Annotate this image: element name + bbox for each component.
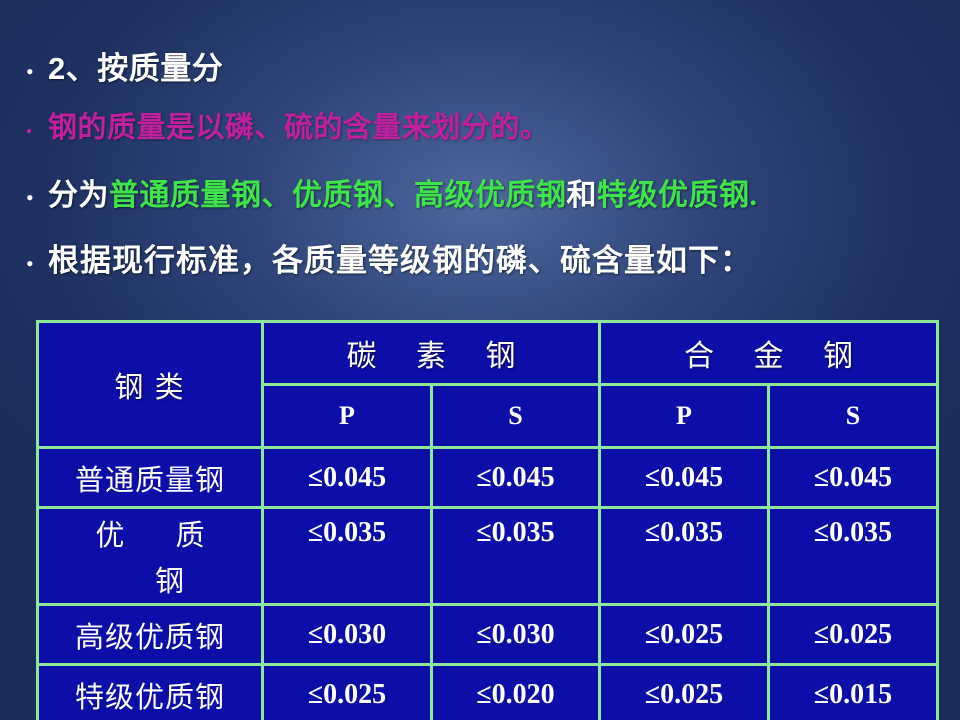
cell-high-carbon-s: ≤0.035 — [432, 508, 600, 605]
table-row: 普通质量钢 ≤0.045 ≤0.045 ≤0.045 ≤0.045 — [38, 448, 938, 508]
bullet-item-2: • 钢的质量是以磷、硫的含量来划分的。 — [26, 104, 550, 146]
header-carbon-steel: 碳 素 钢 — [263, 322, 600, 385]
bullet-text-2: 钢的质量是以磷、硫的含量来划分的。 — [48, 104, 550, 146]
cell-high-alloy-p: ≤0.035 — [600, 508, 769, 605]
cell-ordinary-alloy-p: ≤0.045 — [600, 448, 769, 508]
row-label-ordinary-quality: 普通质量钢 — [38, 448, 263, 508]
header-alloy-steel: 合 金 钢 — [600, 322, 938, 385]
row-label-special-high-quality: 特级优质钢 — [38, 665, 263, 720]
bullet-item-1: • 2、按质量分 — [26, 43, 223, 88]
cell-advanced-alloy-p: ≤0.025 — [600, 605, 769, 665]
row-label-advanced-high-quality: 高级优质钢 — [38, 605, 263, 665]
cell-high-carbon-p: ≤0.035 — [263, 508, 432, 605]
slide-canvas: • 2、按质量分 • 钢的质量是以磷、硫的含量来划分的。 • 分为普通质量钢、优… — [0, 0, 960, 720]
bullet-segment-prefix: 分为 — [48, 179, 109, 212]
cell-ordinary-alloy-s: ≤0.045 — [769, 448, 938, 508]
bullet-text-1: 2、按质量分 — [48, 43, 223, 88]
bullet-item-3: • 分为普通质量钢、优质钢、高级优质钢和特级优质钢. — [26, 170, 758, 214]
header-steel-class: 钢 类 — [38, 322, 263, 448]
bullet-segment-conj: 和 — [567, 179, 598, 212]
header-alloy-p: P — [600, 385, 769, 448]
cell-ordinary-carbon-p: ≤0.045 — [263, 448, 432, 508]
table-header-row-group: 钢 类 碳 素 钢 合 金 钢 — [38, 322, 938, 385]
bullet-text-4: 根据现行标准，各质量等级钢的磷、硫含量如下： — [48, 235, 752, 280]
cell-ordinary-carbon-s: ≤0.045 — [432, 448, 600, 508]
header-carbon-p: P — [263, 385, 432, 448]
table-row: 特级优质钢 ≤0.025 ≤0.020 ≤0.025 ≤0.015 — [38, 665, 938, 720]
bullet-marker-icon: • — [26, 123, 48, 140]
cell-advanced-carbon-s: ≤0.030 — [432, 605, 600, 665]
bullet-segment-grades: 普通质量钢、优质钢、高级优质钢 — [109, 179, 567, 212]
bullet-item-4: • 根据现行标准，各质量等级钢的磷、硫含量如下： — [26, 235, 752, 280]
phosphorus-sulfur-content-table: 钢 类 碳 素 钢 合 金 钢 P S P S 普通质量钢 ≤0.045 ≤0.… — [36, 320, 939, 720]
cell-special-alloy-p: ≤0.025 — [600, 665, 769, 720]
cell-advanced-carbon-p: ≤0.030 — [263, 605, 432, 665]
cell-high-alloy-s: ≤0.035 — [769, 508, 938, 605]
row-label-high-quality: 优 质 钢 — [38, 508, 263, 605]
bullet-marker-icon: • — [26, 187, 48, 209]
cell-advanced-alloy-s: ≤0.025 — [769, 605, 938, 665]
cell-special-carbon-s: ≤0.020 — [432, 665, 600, 720]
bullet-marker-icon: • — [26, 253, 48, 275]
bullet-text-3: 分为普通质量钢、优质钢、高级优质钢和特级优质钢. — [48, 170, 758, 214]
header-carbon-s: S — [432, 385, 600, 448]
bullet-marker-icon: • — [26, 61, 48, 83]
bullet-segment-special: 特级优质钢. — [597, 179, 758, 212]
row-label-line-2: 钢 — [79, 558, 261, 600]
table-row: 优 质 钢 ≤0.035 ≤0.035 ≤0.035 ≤0.035 — [38, 508, 938, 605]
cell-special-alloy-s: ≤0.015 — [769, 665, 938, 720]
header-alloy-s: S — [769, 385, 938, 448]
table-row: 高级优质钢 ≤0.030 ≤0.030 ≤0.025 ≤0.025 — [38, 605, 938, 665]
row-label-line-1: 优 质 — [39, 512, 261, 554]
cell-special-carbon-p: ≤0.025 — [263, 665, 432, 720]
